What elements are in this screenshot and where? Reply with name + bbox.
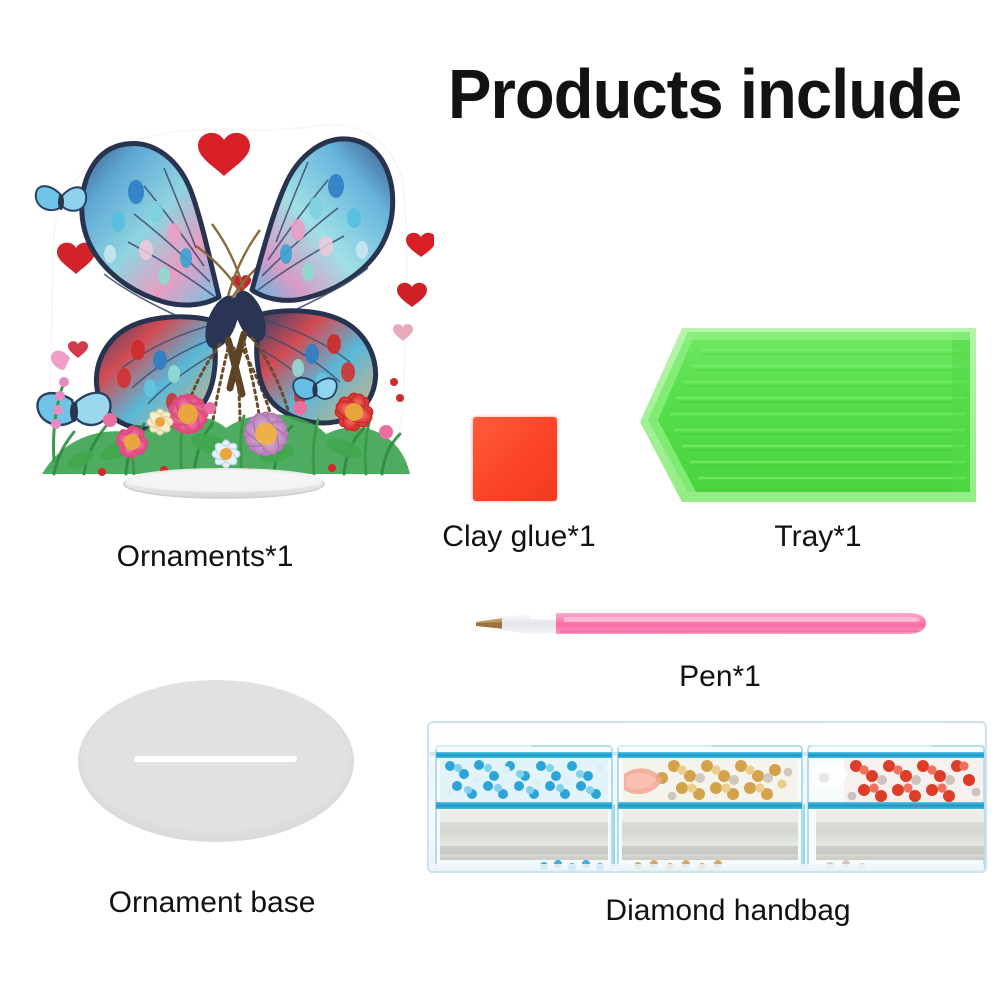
butterfly-ornament-icon	[14, 82, 434, 512]
tray-image	[630, 316, 990, 516]
packet-blue	[436, 746, 644, 871]
drill-pen-icon	[468, 600, 938, 650]
pen-caption: Pen*1	[590, 660, 850, 694]
daisy-cream	[147, 409, 174, 436]
product-includes-board: Products include	[0, 0, 1001, 1001]
acrylic-stand	[124, 468, 324, 498]
tray-caption: Tray*1	[688, 520, 948, 554]
daisy-white	[212, 440, 240, 468]
diamond-handbag-image	[424, 708, 990, 886]
ornament-base-image	[78, 680, 362, 852]
packet-red	[808, 746, 984, 871]
ornaments-image	[14, 82, 434, 512]
clay-glue-image	[473, 417, 557, 501]
zip-bag-icon	[424, 708, 990, 886]
drill-tray-icon	[630, 316, 990, 516]
page-title: Products include	[448, 56, 955, 132]
diamond-handbag-caption: Diamond handbag	[597, 894, 859, 928]
packet-gold	[618, 746, 834, 871]
small-butterfly-left	[36, 186, 86, 211]
ornament-base-caption: Ornament base	[82, 886, 342, 920]
ornaments-caption: Ornaments*1	[55, 540, 355, 574]
clay-glue-caption: Clay glue*1	[389, 520, 649, 554]
pen-image	[468, 600, 938, 650]
base-slot	[134, 756, 297, 762]
